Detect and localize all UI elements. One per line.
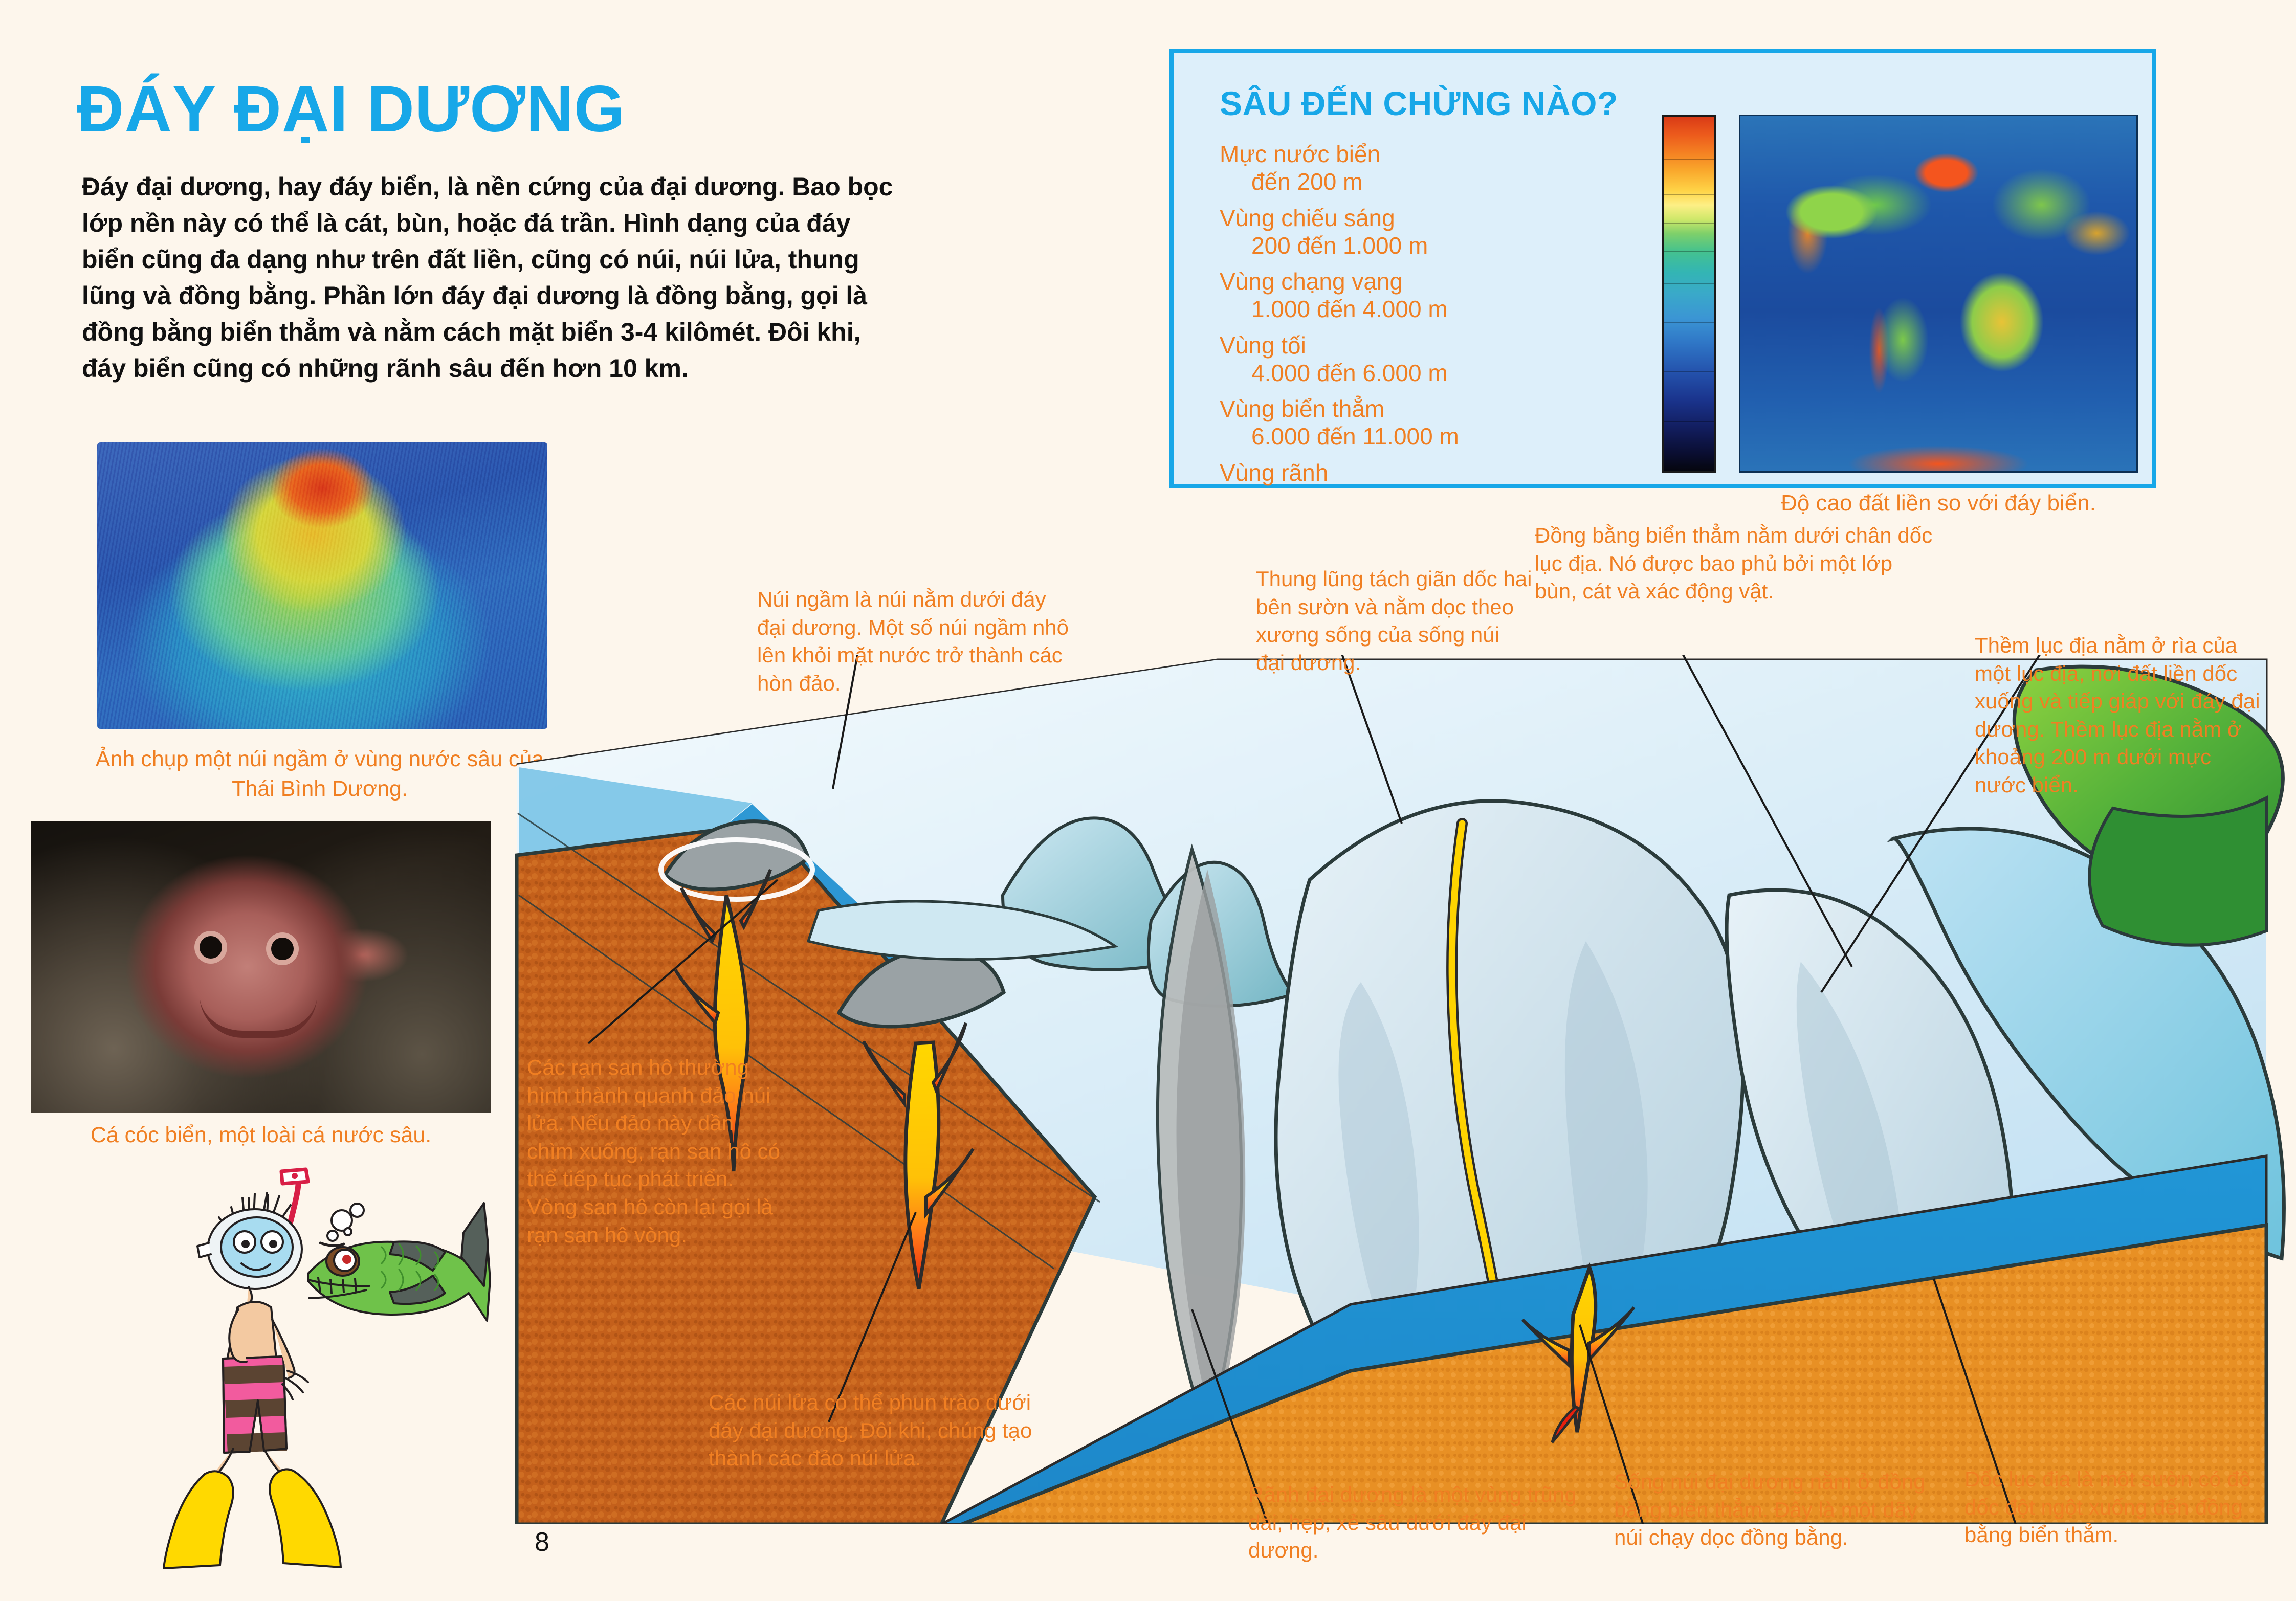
page-title: ĐÁY ĐẠI DƯƠNG	[77, 77, 625, 142]
seamount-caption: Ảnh chụp một núi ngầm ở vùng nước sâu củ…	[82, 744, 558, 804]
zone-range: 6.000 đến 11.000 m	[1220, 423, 1619, 450]
label-continental-shelf: Thềm lục địa nằm ở rìa của một lục địa, …	[1975, 632, 2261, 799]
zone-name: Vùng rãnh	[1220, 459, 1619, 486]
depth-zone-item: Vùng tối 4.000 đến 6.000 m	[1220, 331, 1619, 387]
depth-zone-list: Mực nước biển đến 200 m Vùng chiếu sáng …	[1220, 140, 1619, 495]
deep-sea-fish-photo	[31, 821, 491, 1113]
label-trench: Rãnh đại dương là một vùng trũng dài, hẹ…	[1248, 1481, 1586, 1565]
zone-name: Mực nước biển	[1220, 140, 1619, 168]
depth-zone-item: Mực nước biển đến 200 m	[1220, 140, 1619, 196]
intro-paragraph: Đáy đại dương, hay đáy biển, là nền cứng…	[82, 169, 900, 387]
cartoon-diver-illustration	[128, 1166, 496, 1570]
page-root: ĐÁY ĐẠI DƯƠNG Đáy đại dương, hay đáy biể…	[0, 0, 2296, 1601]
zone-name: Vùng tối	[1220, 331, 1619, 359]
fish-eye-right	[271, 938, 294, 960]
depth-zone-item: Vùng rãnh	[1220, 459, 1619, 486]
zone-name: Vùng chiếu sáng	[1220, 204, 1619, 232]
label-ocean-ridge: Sống núi đại dương nằm ở đồng bằng biển …	[1614, 1468, 1941, 1552]
fish-eye-left	[200, 936, 222, 959]
info-box-title: SÂU ĐẾN CHỪNG NÀO?	[1220, 84, 1618, 123]
zone-name: Vùng biển thẳm	[1220, 395, 1619, 423]
bathymetry-world-map	[1739, 115, 2138, 473]
zone-range: 1.000 đến 4.000 m	[1220, 295, 1619, 323]
label-continental-slope: Dốc lục địa là một sườn có độ dốc đột ng…	[1964, 1465, 2271, 1549]
depth-zone-item: Vùng biển thẳm 6.000 đến 11.000 m	[1220, 395, 1619, 451]
zone-range: 4.000 đến 6.000 m	[1220, 359, 1619, 387]
zone-range: đến 200 m	[1220, 168, 1619, 195]
fish-caption: Cá cóc biển, một loài cá nước sâu.	[31, 1123, 491, 1148]
depth-zone-item: Vùng chạng vạng 1.000 đến 4.000 m	[1220, 268, 1619, 323]
zone-range: 200 đến 1.000 m	[1220, 232, 1619, 259]
fish-mouth	[200, 995, 317, 1038]
depth-zone-item: Vùng chiếu sáng 200 đến 1.000 m	[1220, 204, 1619, 260]
label-volcano: Các núi lửa có thể phun trào dưới đáy đạ…	[709, 1389, 1067, 1473]
depth-color-scale	[1662, 115, 1716, 473]
page-number: 8	[535, 1527, 549, 1558]
label-coral-reef: Các rạn san hô thường hình thành quanh đ…	[527, 1054, 783, 1249]
zone-name: Vùng chạng vạng	[1220, 268, 1619, 295]
seamount-photo	[97, 442, 547, 729]
depth-info-box: SÂU ĐẾN CHỪNG NÀO? Mực nước biển đến 200…	[1169, 49, 2156, 488]
label-abyssal-plain: Đồng bằng biển thẳm nằm dưới chân dốc lụ…	[1535, 522, 1939, 606]
label-seamount: Núi ngầm là núi nằm dưới đáy đại dương. …	[757, 586, 1074, 697]
label-rift-valley: Thung lũng tách giãn dốc hai bên sườn và…	[1256, 565, 1532, 677]
map-caption: Độ cao đất liền so với đáy biển.	[1739, 491, 2138, 516]
